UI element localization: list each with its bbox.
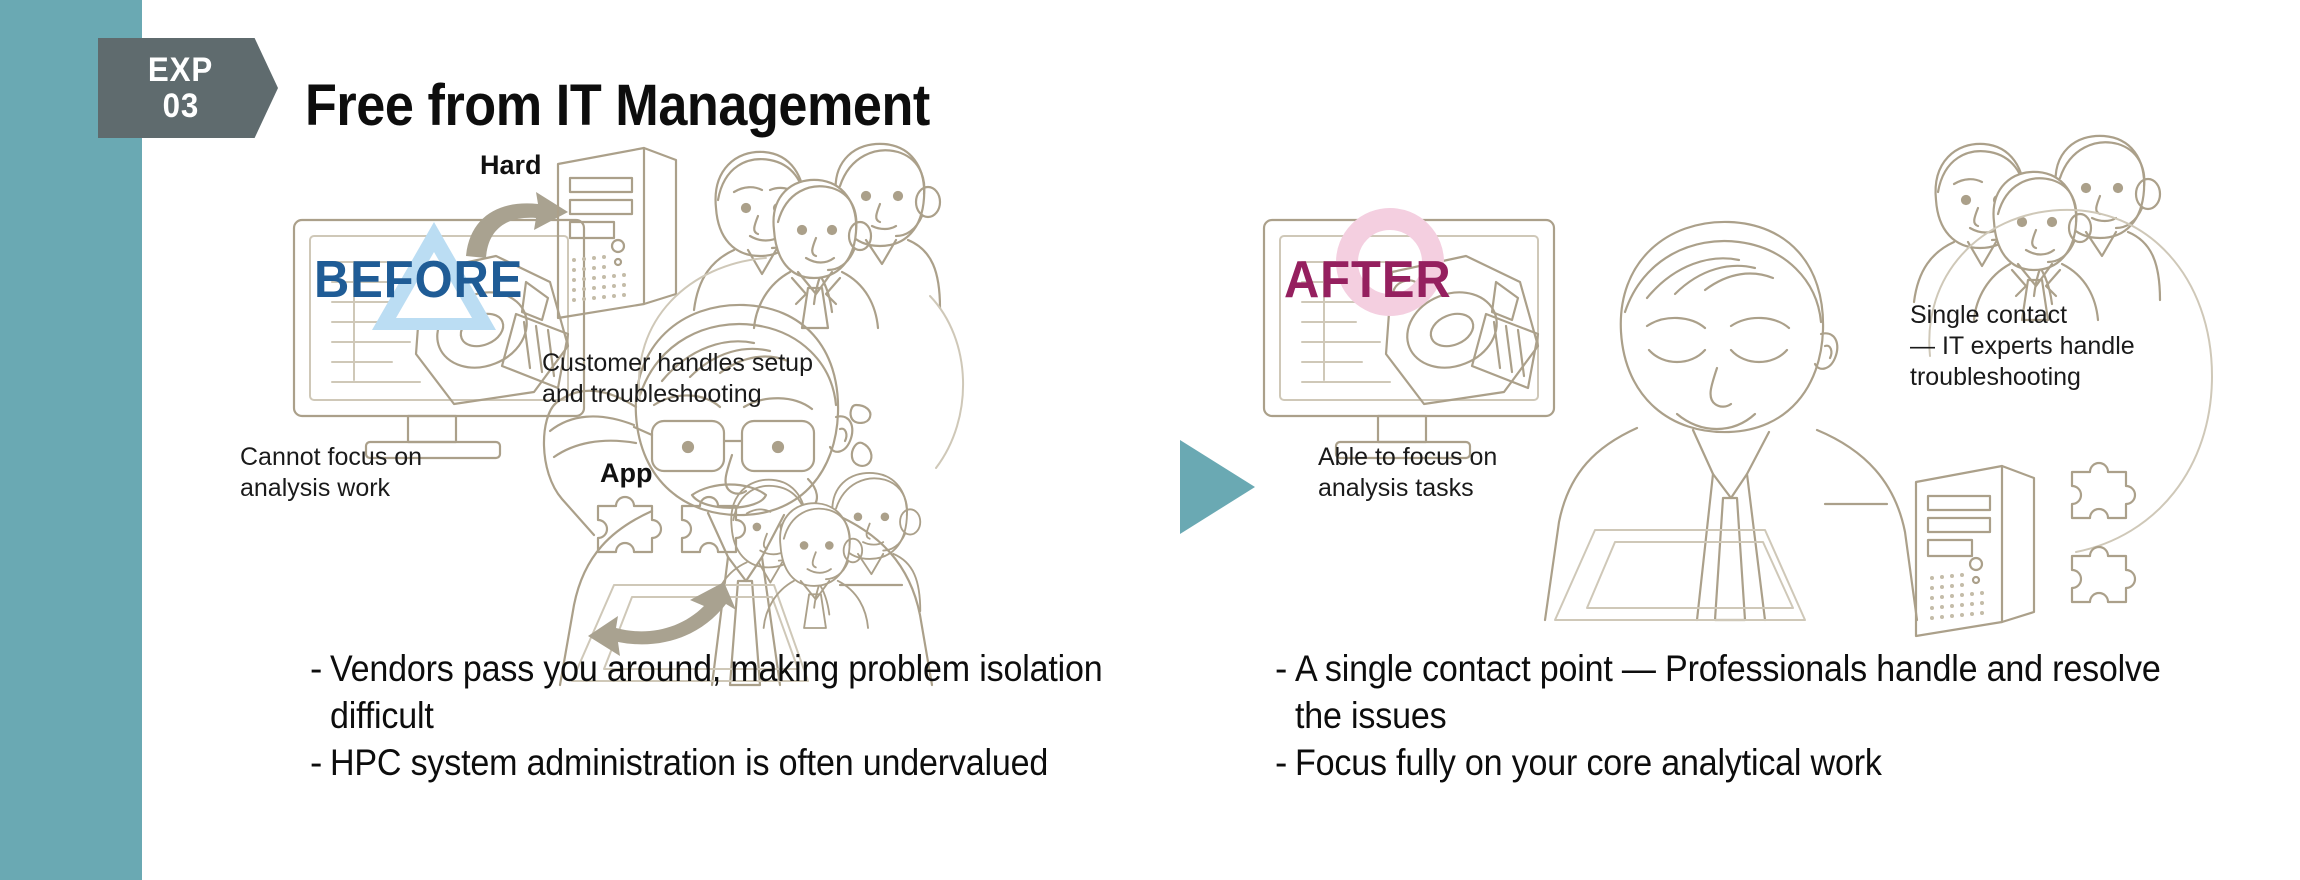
after-stamp: AFTER (1284, 250, 1452, 310)
page-title: Free from IT Management (305, 72, 930, 139)
before-monitor-caption: Cannot focus on analysis work (240, 442, 422, 504)
bullet-text: Vendors pass you around, making problem … (330, 645, 1121, 739)
list-item: - A single contact point — Professionals… (1275, 645, 2265, 739)
transition-arrow-icon (1180, 440, 1255, 534)
list-item: - Vendors pass you around, making proble… (310, 645, 1190, 739)
list-item: - HPC system administration is often und… (310, 739, 1190, 786)
bullet-dash: - (310, 739, 322, 786)
before-app-label: App (600, 458, 652, 489)
before-server-icon (552, 142, 688, 322)
list-item: - Focus fully on your core analytical wo… (1275, 739, 2265, 786)
bullet-dash: - (1275, 739, 1287, 786)
after-support-team-icon (1910, 130, 2160, 320)
before-stamp: BEFORE (314, 250, 523, 310)
exp-badge-line2: 03 (163, 88, 200, 124)
after-support-caption: Single contact — IT experts handle troub… (1910, 300, 2135, 393)
before-support-team-icon (690, 138, 940, 328)
bullet-dash: - (310, 645, 322, 739)
bullet-text: HPC system administration is often under… (330, 739, 1121, 786)
before-bullet-list: - Vendors pass you around, making proble… (310, 645, 1190, 786)
after-puzzle-icon (2060, 458, 2140, 638)
slide-root: EXP 03 Free from IT Management BEFORE (0, 0, 2300, 880)
exp-badge-line1: EXP (148, 52, 213, 88)
after-monitor-caption: Able to focus on analysis tasks (1318, 442, 1497, 504)
after-bullet-list: - A single contact point — Professionals… (1275, 645, 2265, 786)
bullet-dash: - (1275, 645, 1287, 739)
after-person-illustration (1525, 200, 1925, 620)
bullet-text: Focus fully on your core analytical work (1295, 739, 2187, 786)
after-server-icon (1910, 460, 2046, 640)
exp-badge: EXP 03 (98, 38, 278, 138)
before-support-caption: Customer handles setup and troubleshooti… (542, 348, 813, 410)
bullet-text: A single contact point — Professionals h… (1295, 645, 2187, 739)
before-hard-label: Hard (480, 150, 542, 181)
